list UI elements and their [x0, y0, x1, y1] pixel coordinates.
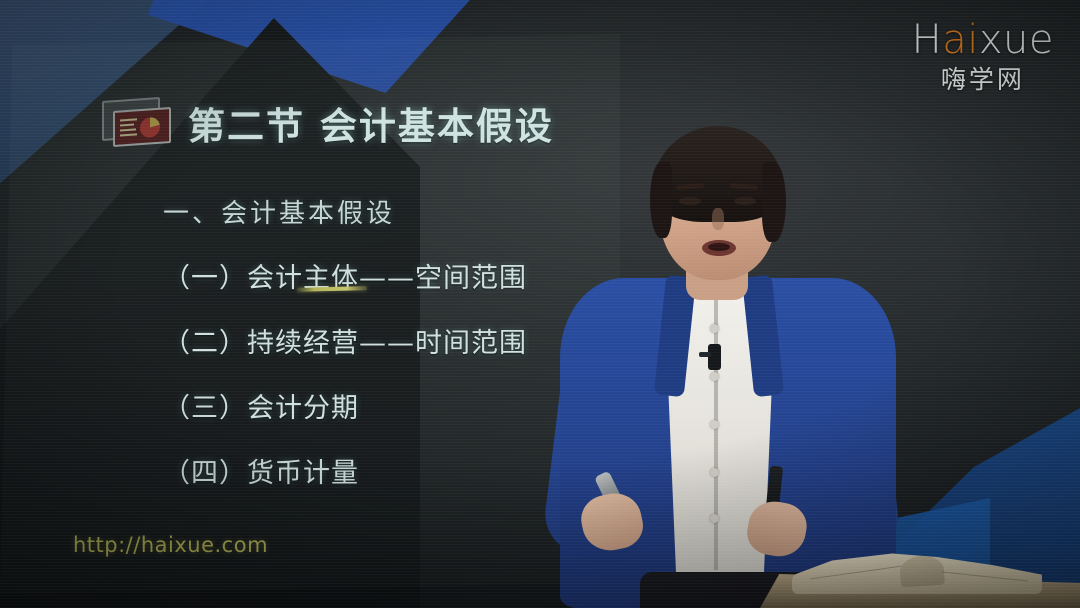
presenter-mouth-inner — [708, 243, 730, 251]
logo-text-accent: ai — [942, 17, 979, 63]
open-book — [792, 550, 1042, 594]
slide-item-4: （四）货币计量 — [163, 451, 359, 490]
lapel-microphone-icon — [708, 344, 721, 370]
presenter-nose — [712, 208, 724, 230]
presenter-eye-right — [734, 197, 756, 205]
shirt-button — [710, 372, 719, 381]
presenter-shirt-placket — [714, 298, 718, 570]
presenter-figure — [548, 120, 908, 608]
microphone-clip — [699, 352, 711, 357]
logo-subtitle: 嗨学网 — [912, 67, 1054, 92]
shirt-button — [710, 468, 719, 477]
lecture-video-frame: 第二节 会计基本假设 一、会计基本假设 （一）会计主体——空间范围 （二）持续经… — [0, 0, 1080, 608]
slide-heading: 一、会计基本假设 — [163, 193, 395, 230]
shirt-button — [710, 514, 719, 523]
slide-title-row: 第二节 会计基本假设 — [96, 96, 554, 150]
presenter-hair-right — [762, 162, 786, 242]
logo-wordmark: Haixue — [912, 20, 1054, 60]
haixue-logo: Haixue 嗨学网 — [912, 20, 1054, 92]
logo-text-before: H — [912, 17, 943, 63]
presenter-hair-left — [650, 162, 672, 238]
shirt-button — [710, 324, 719, 333]
shirt-button — [710, 420, 719, 429]
slide-title: 第二节 会计基本假设 — [188, 96, 554, 150]
slide-item-3: （三）会计分期 — [163, 386, 359, 425]
logo-text-after: xue — [979, 17, 1054, 63]
slide-item-2: （二）持续经营——时间范围 — [163, 321, 527, 360]
presenter-eye-left — [679, 197, 701, 205]
slide-footer-url: http://haixue.com — [73, 533, 268, 557]
presentation-slide-icon — [96, 97, 174, 149]
